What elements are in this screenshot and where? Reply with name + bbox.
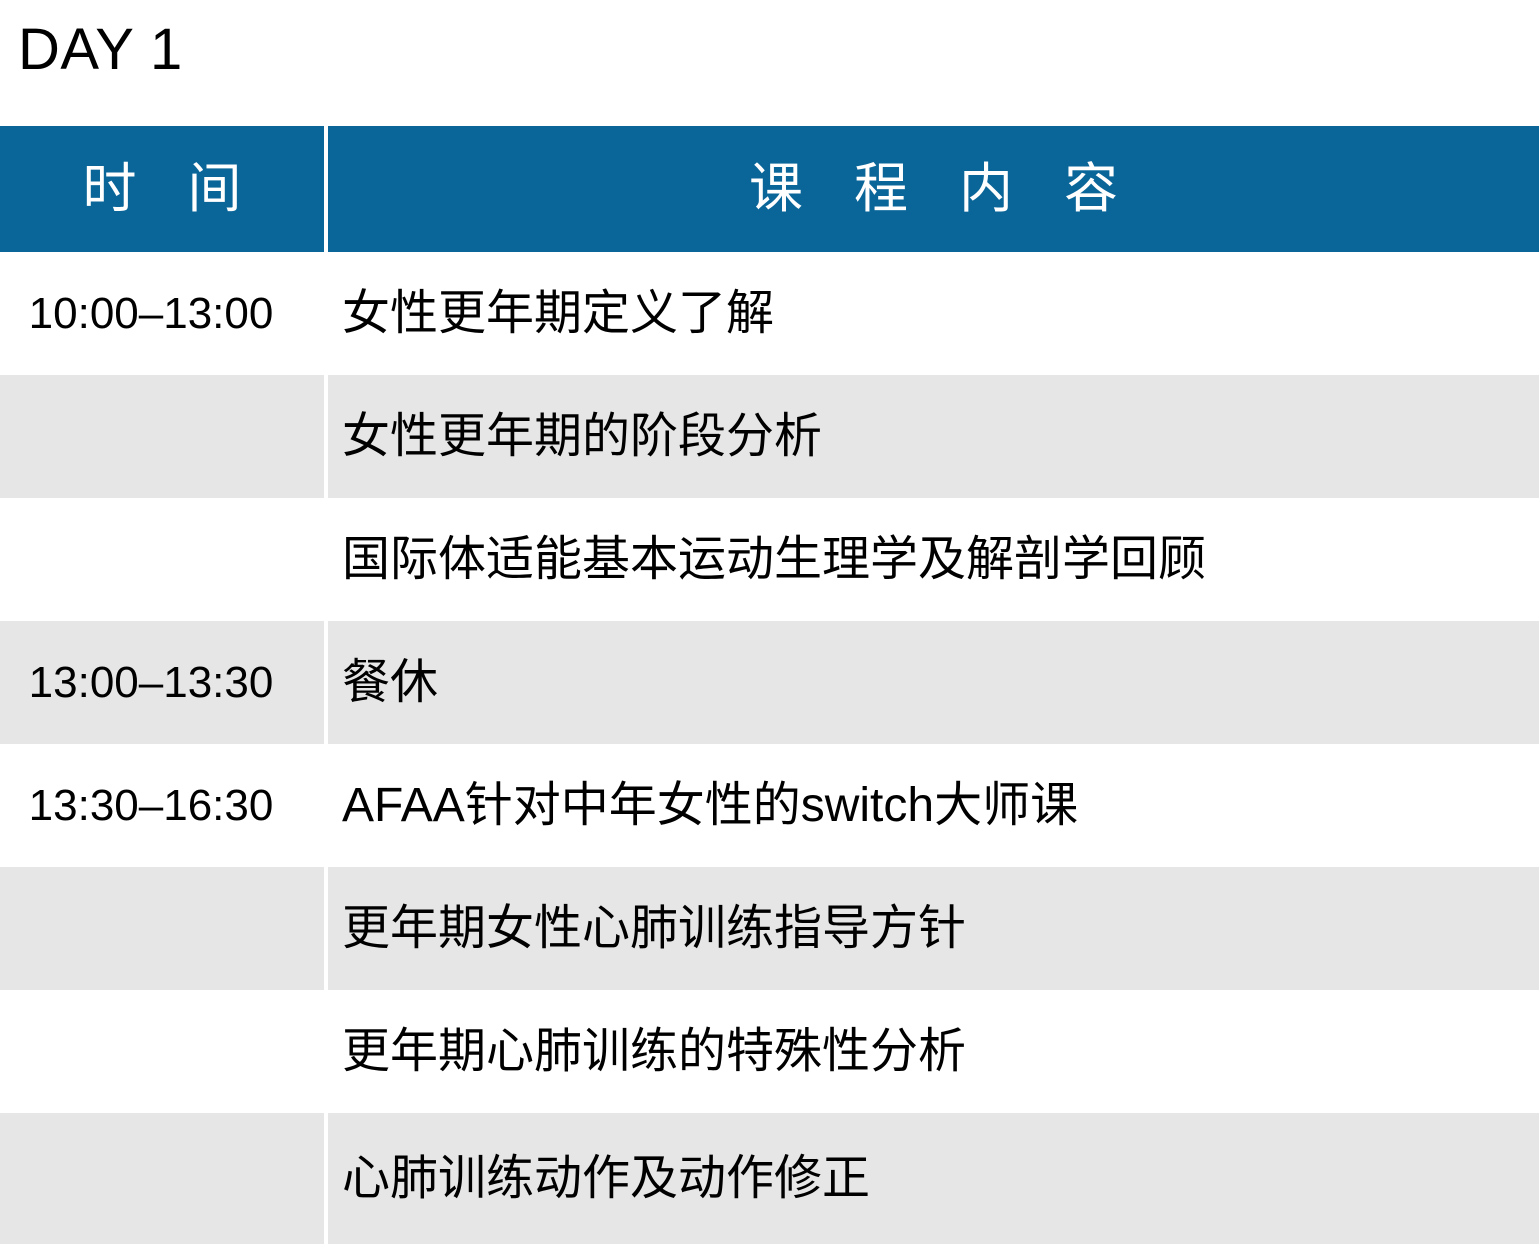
cell-time [0,375,326,498]
cell-content: AFAA针对中年女性的switch大师课 [326,744,1539,867]
cell-time [0,990,326,1113]
cell-content: 女性更年期的阶段分析 [326,375,1539,498]
table-row: 10:00–13:00女性更年期定义了解 [0,252,1539,375]
cell-time-text: 13:30–16:30 [0,780,302,832]
cell-content-text: 女性更年期定义了解 [342,286,1539,342]
column-header-time: 时 间 [0,126,326,252]
cell-content: 国际体适能基本运动生理学及解剖学回顾 [326,498,1539,621]
table-row: 国际体适能基本运动生理学及解剖学回顾 [0,498,1539,621]
cell-time [0,1113,326,1244]
column-header-content-label: 课 程 内 容 [328,159,1539,219]
cell-time: 10:00–13:00 [0,252,326,375]
column-header-time-label: 时 间 [0,159,324,219]
page-title: DAY 1 [18,16,183,84]
cell-time-text: 10:00–13:00 [0,288,302,340]
table-header-row: 时 间 课 程 内 容 [0,126,1539,252]
cell-time [0,498,326,621]
cell-time-text: 13:00–13:30 [0,657,302,709]
table-row: 更年期心肺训练的特殊性分析 [0,990,1539,1113]
cell-content: 餐休 [326,621,1539,744]
column-header-content: 课 程 内 容 [326,126,1539,252]
table-row: 女性更年期的阶段分析 [0,375,1539,498]
schedule-table: 时 间 课 程 内 容 10:00–13:00女性更年期定义了解女性更年期的阶段… [0,126,1539,1244]
cell-content: 心肺训练动作及动作修正 [326,1113,1539,1244]
cell-content: 女性更年期定义了解 [326,252,1539,375]
cell-content-text: 女性更年期的阶段分析 [342,409,1539,465]
cell-time: 13:00–13:30 [0,621,326,744]
table-body: 10:00–13:00女性更年期定义了解女性更年期的阶段分析国际体适能基本运动生… [0,252,1539,1244]
slide-page: DAY 1 时 间 课 程 内 容 10:00–13:00女性更年期定义了解女性… [0,0,1539,1251]
table-row: 更年期女性心肺训练指导方针 [0,867,1539,990]
cell-content-text: 心肺训练动作及动作修正 [342,1151,1539,1207]
cell-time: 13:30–16:30 [0,744,326,867]
cell-content-text: AFAA针对中年女性的switch大师课 [342,778,1539,834]
cell-time [0,867,326,990]
cell-content: 更年期心肺训练的特殊性分析 [326,990,1539,1113]
table-row: 13:30–16:30AFAA针对中年女性的switch大师课 [0,744,1539,867]
cell-content-text: 国际体适能基本运动生理学及解剖学回顾 [342,532,1539,588]
table-row: 心肺训练动作及动作修正 [0,1113,1539,1244]
cell-content-text: 更年期心肺训练的特殊性分析 [342,1024,1539,1080]
cell-content-text: 餐休 [342,655,1539,711]
table-row: 13:00–13:30餐休 [0,621,1539,744]
cell-content: 更年期女性心肺训练指导方针 [326,867,1539,990]
cell-content-text: 更年期女性心肺训练指导方针 [342,901,1539,957]
